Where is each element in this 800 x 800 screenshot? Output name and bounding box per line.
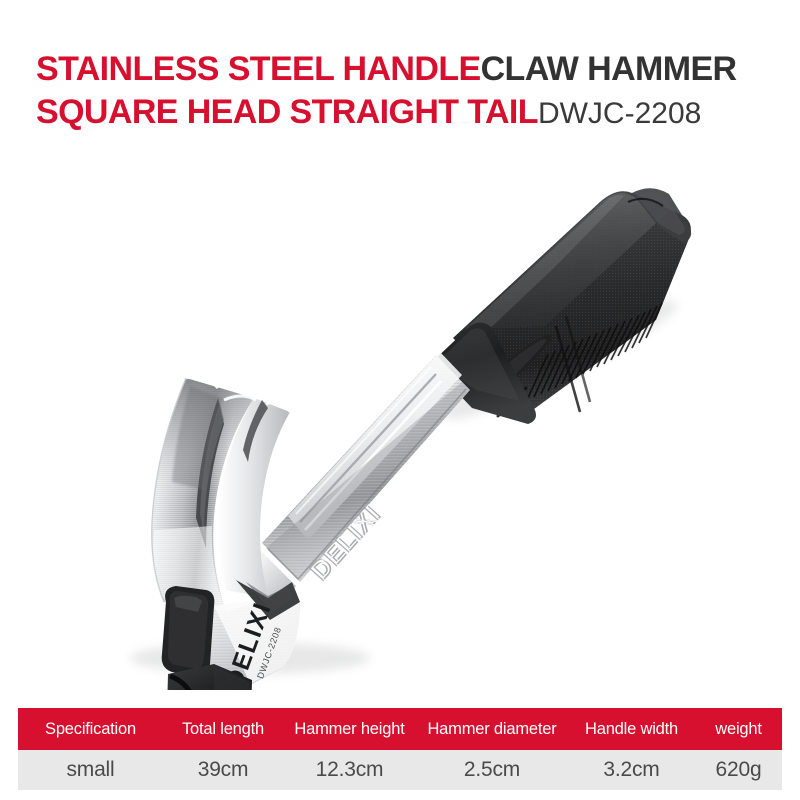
product-photo: DELIXI DELIXI xyxy=(0,150,800,690)
cell-weight: 620g xyxy=(695,750,782,790)
table-header-hammer-diameter: Hammer diameter xyxy=(416,708,568,750)
table-header-hammer-height: Hammer height xyxy=(283,708,416,750)
product-model-number: DWJC-2208 xyxy=(538,97,701,130)
page-title: STAINLESS STEEL HANDLECLAW HAMMER SQUARE… xyxy=(36,52,784,129)
head-rubber-pad xyxy=(162,586,215,676)
cell-total-length: 39cm xyxy=(163,750,283,790)
cell-hammer-height: 12.3cm xyxy=(283,750,416,790)
title-dark-primary: CLAW HAMMER xyxy=(481,50,737,88)
stainless-steel-shaft: DELIXI DELIXI xyxy=(236,352,470,620)
cell-hammer-diameter: 2.5cm xyxy=(416,750,568,790)
table-header-handle-width: Handle width xyxy=(568,708,695,750)
table-header-row: Specification Total length Hammer height… xyxy=(18,708,782,750)
title-red-primary: STAINLESS STEEL HANDLE xyxy=(36,50,481,88)
cell-specification: small xyxy=(18,750,163,790)
table-header-total-length: Total length xyxy=(163,708,283,750)
table-header-specification: Specification xyxy=(18,708,163,750)
title-red-secondary: SQUARE HEAD STRAIGHT TAIL xyxy=(36,93,538,131)
cell-handle-width: 3.2cm xyxy=(568,750,695,790)
table-header-weight: weight xyxy=(695,708,782,750)
claw-hammer-illustration: DELIXI DELIXI xyxy=(0,150,800,690)
table-row: small 39cm 12.3cm 2.5cm 3.2cm 620g xyxy=(18,750,782,790)
specification-table: Specification Total length Hammer height… xyxy=(18,708,782,790)
title-line-secondary: SQUARE HEAD STRAIGHT TAILDWJC-2208 xyxy=(36,95,784,129)
title-line-primary: STAINLESS STEEL HANDLECLAW HAMMER xyxy=(36,52,784,86)
